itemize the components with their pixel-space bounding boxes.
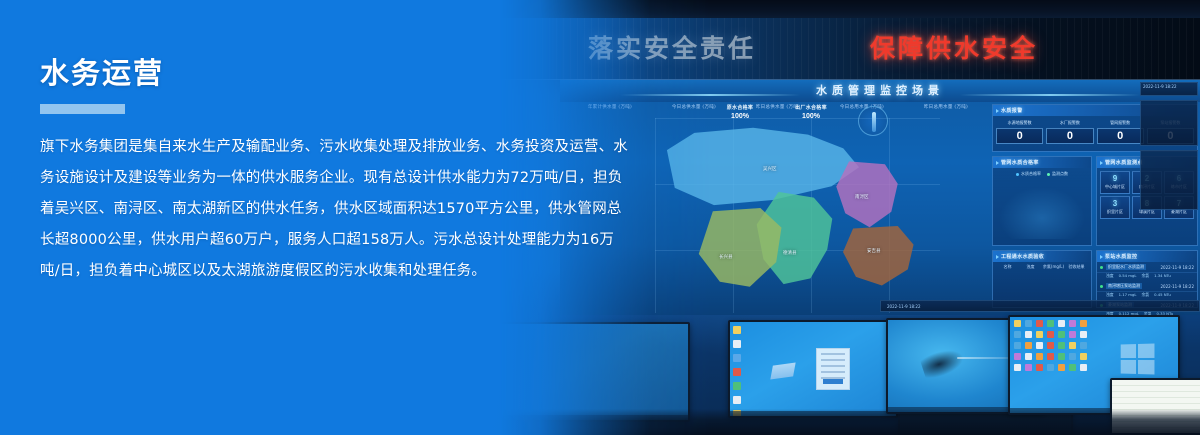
percent-label: 原水合格率 xyxy=(710,104,770,111)
page-title: 水务运营 xyxy=(40,50,640,92)
desktop-icon-grid xyxy=(1014,320,1089,373)
map-region-label: 安吉县 xyxy=(867,248,881,254)
desktop-icon[interactable] xyxy=(1047,320,1054,327)
desktop-icon[interactable] xyxy=(1080,320,1087,327)
desktop-icon[interactable] xyxy=(1058,342,1065,349)
kpi-label: 昨日总用水量 (万吨) xyxy=(904,104,988,110)
monitor-left-blank xyxy=(500,322,690,422)
rear-screen-low xyxy=(1140,150,1198,210)
title-underline xyxy=(40,104,125,114)
desktop-icon[interactable] xyxy=(733,340,741,348)
metric-key: 余氯 xyxy=(1141,273,1149,279)
metric-value: 0.45 NTu xyxy=(1154,292,1171,298)
log-entry: 织里配水厂水质监测 2022-11-9 18:22 浊度 0.54 mgL 余氯… xyxy=(1097,262,1197,281)
panel-header: 管网水质合格率 xyxy=(993,157,1091,168)
desktop-icon[interactable] xyxy=(1058,353,1065,360)
panel-title: 工程通水水质验收 xyxy=(1001,253,1044,260)
desktop-icon[interactable] xyxy=(1014,342,1021,349)
table-column-header: 浊度 xyxy=(1019,264,1042,270)
chevron-right-icon xyxy=(996,255,999,259)
map-region-label: 吴兴区 xyxy=(763,166,777,172)
desktop-icon[interactable] xyxy=(1069,320,1076,327)
desktop-icon[interactable] xyxy=(1047,342,1054,349)
table-header-row: 名称 浊度 余氯(mg/L) 验收结果 xyxy=(993,262,1091,272)
desktop-icon[interactable] xyxy=(1025,364,1032,371)
panel-title: 管网水质监测点 xyxy=(1105,159,1143,166)
chevron-right-icon xyxy=(996,109,999,113)
desktop-icon[interactable] xyxy=(1036,364,1043,371)
log-entry-head: 织里配水厂水质监测 2022-11-9 18:22 xyxy=(1097,262,1197,273)
log-time: 2022-11-9 18:22 xyxy=(1161,284,1195,289)
dashboard-title: 水质管理监控场景 xyxy=(560,82,1200,98)
desktop-icon[interactable] xyxy=(1069,353,1076,360)
alarm-value: 0 xyxy=(1097,128,1144,144)
install-dialog[interactable] xyxy=(816,348,850,390)
screen-blank xyxy=(500,324,688,420)
panel-header: 工程通水水质验收 xyxy=(993,251,1091,262)
alarm-value: 0 xyxy=(1046,128,1093,144)
point-label: 织里片区 xyxy=(1101,209,1129,215)
monitoring-point-cell[interactable]: 3 织里片区 xyxy=(1100,196,1130,219)
desktop-icon[interactable] xyxy=(1014,353,1021,360)
legend-item: 监测点数 xyxy=(1047,171,1068,177)
table-column-header: 验收结果 xyxy=(1065,264,1088,270)
point-label: 中心城片区 xyxy=(1101,184,1129,190)
legend-swatch xyxy=(1016,173,1019,176)
body-paragraph: 旗下水务集团是集自来水生产及输配业务、污水收集处理及排放业务、水务投资及运营、水… xyxy=(40,132,630,287)
metric-value: 1.17 mgL xyxy=(1119,292,1137,298)
desktop-icon[interactable] xyxy=(1080,342,1087,349)
desktop-icon[interactable] xyxy=(1036,353,1043,360)
chevron-right-icon xyxy=(1100,161,1103,165)
log-name: 织里配水厂水质监测 xyxy=(1106,264,1146,270)
log-entry: 南浔增压泵站监测 2022-11-9 18:22 浊度 1.17 mgL 余氯 … xyxy=(1097,281,1197,300)
desktop-icon[interactable] xyxy=(1047,353,1054,360)
legend-label: 监测点数 xyxy=(1052,171,1068,177)
alarm-card: 管网报警数 0 xyxy=(1097,120,1144,144)
desktop-icon[interactable] xyxy=(733,382,741,390)
desktop-icon[interactable] xyxy=(733,354,741,362)
desk-ledge xyxy=(500,409,1200,435)
panel-pipe-network-pass-rate: 管网水质合格率 水质合格率 监测点数 xyxy=(992,156,1092,246)
status-dot-icon xyxy=(1100,285,1103,288)
desktop-icon[interactable] xyxy=(1036,331,1043,338)
metric-value: 1.34 NTu xyxy=(1154,273,1171,279)
panel-title: 管网水质合格率 xyxy=(1001,159,1039,166)
slogan-right: 保障供水安全 xyxy=(870,29,1038,65)
desktop-icon[interactable] xyxy=(1058,331,1065,338)
desktop-icon[interactable] xyxy=(1014,331,1021,338)
folder-icon[interactable] xyxy=(770,363,795,380)
mini-map-chart xyxy=(999,187,1085,239)
dialog-primary-button[interactable] xyxy=(823,379,843,384)
alarm-value: 0 xyxy=(996,128,1043,144)
chevron-right-icon xyxy=(996,161,999,165)
percent-label: 出厂水合格率 xyxy=(778,104,844,111)
log-time: 2022-11-9 18:22 xyxy=(1161,265,1195,270)
status-strip-time: 2022-11-9 18:22 xyxy=(885,303,923,310)
desktop-icon[interactable] xyxy=(1025,342,1032,349)
monitor-install-dialog xyxy=(728,320,898,418)
alarm-label: 水源地报警数 xyxy=(996,120,1043,126)
map-region-label: 长兴县 xyxy=(719,254,733,260)
table-column-header: 名称 xyxy=(996,264,1019,270)
screen-windows-dialog xyxy=(730,322,896,416)
desktop-icon[interactable] xyxy=(1047,364,1054,371)
desktop-icon[interactable] xyxy=(1080,331,1087,338)
desktop-icon[interactable] xyxy=(1036,320,1043,327)
panel-header: 泵站水质监控 xyxy=(1097,251,1197,262)
status-dot-icon xyxy=(1100,266,1103,269)
alarm-card: 水厂报警数 0 xyxy=(1046,120,1093,144)
point-count: 3 xyxy=(1101,199,1129,208)
metric-value: 0.54 mgL xyxy=(1119,273,1137,279)
panel-title: 泵站水质监控 xyxy=(1105,253,1137,260)
map-region-label: 德清县 xyxy=(783,250,797,256)
diver-figure xyxy=(919,345,966,381)
status-strip: 2022-11-9 18:22 xyxy=(880,300,1200,312)
rear-screen-text: 2022-11-9 18:22 xyxy=(1141,83,1197,90)
desktop-icon[interactable] xyxy=(1036,342,1043,349)
monitoring-point-cell[interactable]: 9 中心城片区 xyxy=(1100,171,1130,194)
water-quality-dashboard: 水质管理监控场景 年累计供水量 (万吨) 今日总供水量 (万吨) 昨日总供水量 … xyxy=(560,80,1200,315)
point-count: 9 xyxy=(1101,174,1129,183)
chevron-right-icon xyxy=(1100,255,1103,259)
alarm-label: 水厂报警数 xyxy=(1046,120,1093,126)
alarm-card: 水源地报警数 0 xyxy=(996,120,1043,144)
desktop-icon[interactable] xyxy=(1069,342,1076,349)
panel-title: 水质报警 xyxy=(1001,107,1023,114)
text-content: 水务运营 旗下水务集团是集自来水生产及输配业务、污水收集处理及排放业务、水务投资… xyxy=(40,50,640,287)
log-entry-head: 南浔增压泵站监测 2022-11-9 18:22 xyxy=(1097,281,1197,292)
legend-item: 水质合格率 xyxy=(1016,171,1041,177)
desktop-icon[interactable] xyxy=(733,368,741,376)
windows-logo-icon xyxy=(1121,343,1155,374)
legend-swatch xyxy=(1047,173,1050,176)
alarm-label: 管网报警数 xyxy=(1097,120,1144,126)
desktop-icon[interactable] xyxy=(1069,331,1076,338)
log-name: 南浔增压泵站监测 xyxy=(1106,283,1142,289)
desktop-icon[interactable] xyxy=(1047,331,1054,338)
chart-legend: 水质合格率 监测点数 xyxy=(993,171,1091,177)
desktop-icon[interactable] xyxy=(1080,364,1087,371)
desktop-icon[interactable] xyxy=(1014,364,1021,371)
rear-screen-mid xyxy=(1140,100,1198,146)
desktop-icon[interactable] xyxy=(733,326,741,334)
desktop-icon[interactable] xyxy=(1058,320,1065,327)
service-area-map: 吴兴区 德清县 长兴县 南浔区 安吉县 xyxy=(655,118,940,313)
desktop-icon[interactable] xyxy=(1025,353,1032,360)
legend-label: 水质合格率 xyxy=(1021,171,1041,177)
desktop-icon[interactable] xyxy=(1025,331,1032,338)
map-region-label: 南浔区 xyxy=(855,194,869,200)
desktop-icon[interactable] xyxy=(1025,320,1032,327)
table-column-header: 余氯(mg/L) xyxy=(1042,264,1065,270)
metric-key: 浊度 xyxy=(1106,292,1114,298)
desktop-icon[interactable] xyxy=(1080,353,1087,360)
log-metrics: 浊度 0.54 mgL 余氯 1.34 NTu xyxy=(1097,273,1197,281)
desktop-icon[interactable] xyxy=(1069,364,1076,371)
desktop-icon-column xyxy=(733,326,741,418)
water-operations-banner: 落实安全责任 保障供水安全 水质管理监控场景 年累计供水量 (万吨) 今日总供水… xyxy=(0,0,1200,435)
metric-key: 余氯 xyxy=(1141,292,1149,298)
metric-key: 浊度 xyxy=(1106,273,1114,279)
rear-screen-top: 2022-11-9 18:22 xyxy=(1140,82,1198,96)
ceiling-strip xyxy=(500,0,1200,20)
log-metrics: 浊度 1.17 mgL 余氯 0.45 NTu xyxy=(1097,292,1197,300)
desktop-icon[interactable] xyxy=(1014,320,1021,327)
desktop-icon[interactable] xyxy=(733,396,741,404)
desktop-icon[interactable] xyxy=(1058,364,1065,371)
